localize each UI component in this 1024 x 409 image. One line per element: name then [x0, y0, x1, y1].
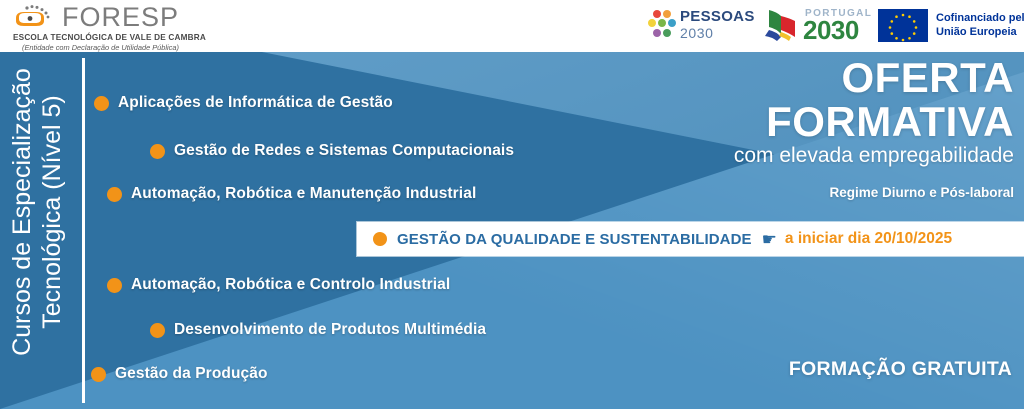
bullet-dot-icon [107, 187, 122, 202]
course-item[interactable]: Desenvolvimento de Produtos Multimédia [150, 321, 486, 339]
sidebar-divider [82, 58, 85, 403]
foresp-logo: FORESP ESCOLA TECNOLÓGICA DE VALE DE CAM… [8, 2, 308, 50]
vertical-sidebar: Cursos de Especialização Tecnológica (Ní… [0, 52, 86, 409]
headline-regime: Regime Diurno e Pós-laboral [734, 185, 1014, 200]
free-training-tag: FORMAÇÃO GRATUITA [789, 358, 1012, 381]
eu-cofinancing-logo: Cofinanciado pela União Europeia [878, 8, 1018, 44]
bullet-dot-icon [94, 96, 109, 111]
headline-subtitle: com elevada empregabilidade [734, 144, 1014, 168]
logo-header-bar: FORESP ESCOLA TECNOLÓGICA DE VALE DE CAM… [0, 0, 1024, 52]
highlight-banner[interactable]: GESTÃO DA QUALIDADE E SUSTENTABILIDADE ☛… [357, 222, 1024, 256]
sidebar-label-line2: Tecnológica (Nível 5) [37, 52, 67, 387]
eu-cofinancing-text: Cofinanciado pela União Europeia [936, 11, 1024, 39]
sidebar-label-line1: Cursos de Especialização [7, 52, 37, 387]
portugal-year: 2030 [803, 16, 859, 44]
bullet-dot-icon [150, 323, 165, 338]
bullet-dot-icon [150, 144, 165, 159]
course-item[interactable]: Automação, Robótica e Controlo Industria… [107, 276, 450, 294]
promotional-banner: FORESP ESCOLA TECNOLÓGICA DE VALE DE CAM… [0, 0, 1024, 409]
course-label: Desenvolvimento de Produtos Multimédia [174, 321, 486, 339]
course-label: Automação, Robótica e Controlo Industria… [131, 276, 450, 294]
highlight-course-label: GESTÃO DA QUALIDADE E SUSTENTABILIDADE [397, 231, 752, 248]
eu-cofinancing-line1: Cofinanciado pela [936, 11, 1024, 25]
course-label: Aplicações de Informática de Gestão [118, 94, 393, 112]
foresp-wordmark: FORESP [62, 2, 179, 32]
course-item[interactable]: Gestão de Redes e Sistemas Computacionai… [150, 142, 514, 160]
eu-cofinancing-line2: União Europeia [936, 25, 1024, 39]
headline-line-1: OFERTA [734, 56, 1014, 100]
headline-line-2: FORMATIVA [734, 100, 1014, 144]
headline-block: OFERTA FORMATIVA com elevada empregabili… [734, 56, 1014, 200]
course-label: Gestão da Produção [115, 365, 268, 383]
course-item[interactable]: Gestão da Produção [91, 365, 268, 383]
course-label: Gestão de Redes e Sistemas Computacionai… [174, 142, 514, 160]
sidebar-label: Cursos de Especialização Tecnológica (Ní… [7, 52, 67, 387]
pessoas-emblem-icon [648, 8, 678, 42]
pessoas-year: 2030 [680, 25, 714, 41]
pessoas-2030-logo: PESSOAS 2030 [648, 8, 758, 44]
portugal-flag-icon [765, 6, 801, 42]
highlight-start-date: a iniciar dia 20/10/2025 [785, 230, 952, 248]
pointing-hand-icon: ☛ [762, 231, 777, 248]
course-item[interactable]: Automação, Robótica e Manutenção Industr… [107, 185, 476, 203]
eu-flag-icon [878, 9, 928, 42]
pessoas-title: PESSOAS [680, 9, 755, 25]
bullet-dot-icon [91, 367, 106, 382]
bullet-dot-icon [373, 232, 387, 246]
main-stage: Cursos de Especialização Tecnológica (Ní… [0, 52, 1024, 409]
foresp-subtitle: ESCOLA TECNOLÓGICA DE VALE DE CAMBRA [13, 33, 206, 42]
bullet-dot-icon [107, 278, 122, 293]
foresp-mark-icon [12, 4, 58, 30]
course-item[interactable]: Aplicações de Informática de Gestão [94, 94, 393, 112]
foresp-legal-note: (Entidade com Declaração de Utilidade Pú… [22, 43, 179, 52]
course-label: Automação, Robótica e Manutenção Industr… [131, 185, 476, 203]
portugal-2030-logo: PORTUGAL 2030 [765, 6, 870, 46]
